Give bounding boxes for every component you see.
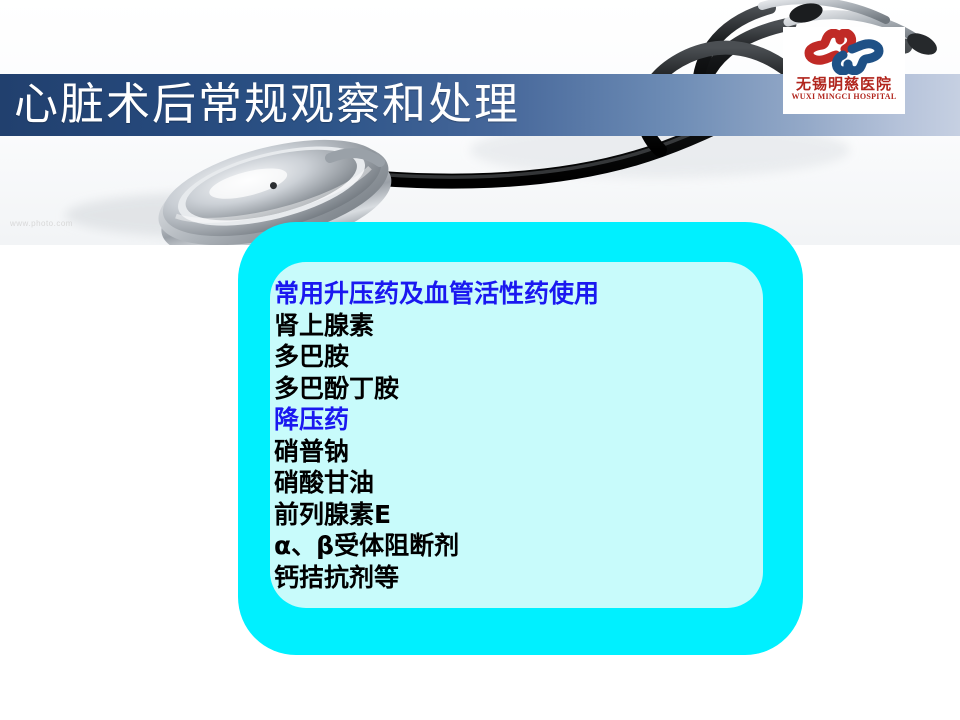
- list-item: 多巴酚丁胺: [274, 373, 754, 405]
- list-item: 前列腺素E: [274, 499, 754, 531]
- list-item: 降压药: [274, 404, 754, 436]
- list-item: 钙拮抗剂等: [274, 562, 754, 594]
- hospital-logo: 无锡明慈医院 WUXI MINGCI HOSPITAL: [783, 27, 905, 114]
- list-item: 多巴胺: [274, 341, 754, 373]
- hospital-cross-heart-icon: [788, 29, 900, 75]
- slide-canvas: www.photo.com 心脏术后常规观察和处理 无锡明慈医院 WUXI MI…: [0, 0, 960, 720]
- photo-watermark: www.photo.com: [10, 219, 73, 228]
- list-item: 硝普钠: [274, 436, 754, 468]
- list-item: 肾上腺素: [274, 310, 754, 342]
- logo-chinese-name: 无锡明慈医院: [783, 76, 905, 92]
- page-title: 心脏术后常规观察和处理: [14, 72, 754, 138]
- list-item: 硝酸甘油: [274, 467, 754, 499]
- logo-english-name: WUXI MINGCI HOSPITAL: [783, 92, 905, 101]
- list-item: α、β受体阻断剂: [274, 530, 754, 562]
- drug-list: 常用升压药及血管活性药使用 肾上腺素 多巴胺 多巴酚丁胺 降压药 硝普钠 硝酸甘…: [274, 278, 754, 593]
- list-item: 常用升压药及血管活性药使用: [274, 278, 754, 310]
